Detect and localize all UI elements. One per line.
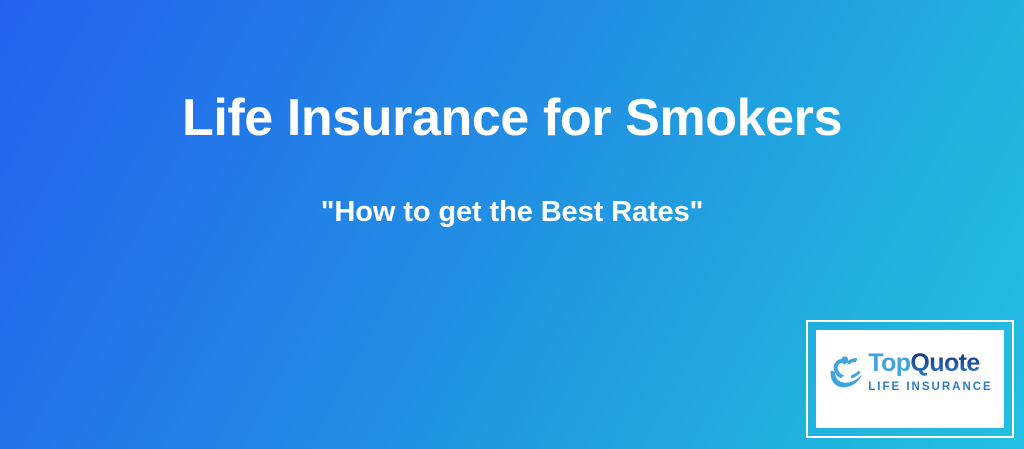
logo-name-top: Top	[868, 349, 910, 377]
logo-tagline: LIFE INSURANCE	[868, 380, 992, 394]
hero-banner: Life Insurance for Smokers "How to get t…	[0, 0, 1024, 449]
logo-name: TopQuote	[868, 351, 979, 376]
logo-lockup: TopQuote LIFE INSURANCE	[827, 351, 992, 394]
page-title: Life Insurance for Smokers	[0, 84, 1024, 152]
page-subtitle: "How to get the Best Rates"	[0, 192, 1024, 232]
logo-panel: TopQuote LIFE INSURANCE	[816, 330, 1004, 428]
logo-wordmark: TopQuote LIFE INSURANCE	[868, 351, 992, 394]
person-swoosh-icon	[827, 353, 865, 391]
logo-name-quote: Quote	[910, 349, 979, 377]
logo-badge: TopQuote LIFE INSURANCE	[806, 320, 1014, 438]
